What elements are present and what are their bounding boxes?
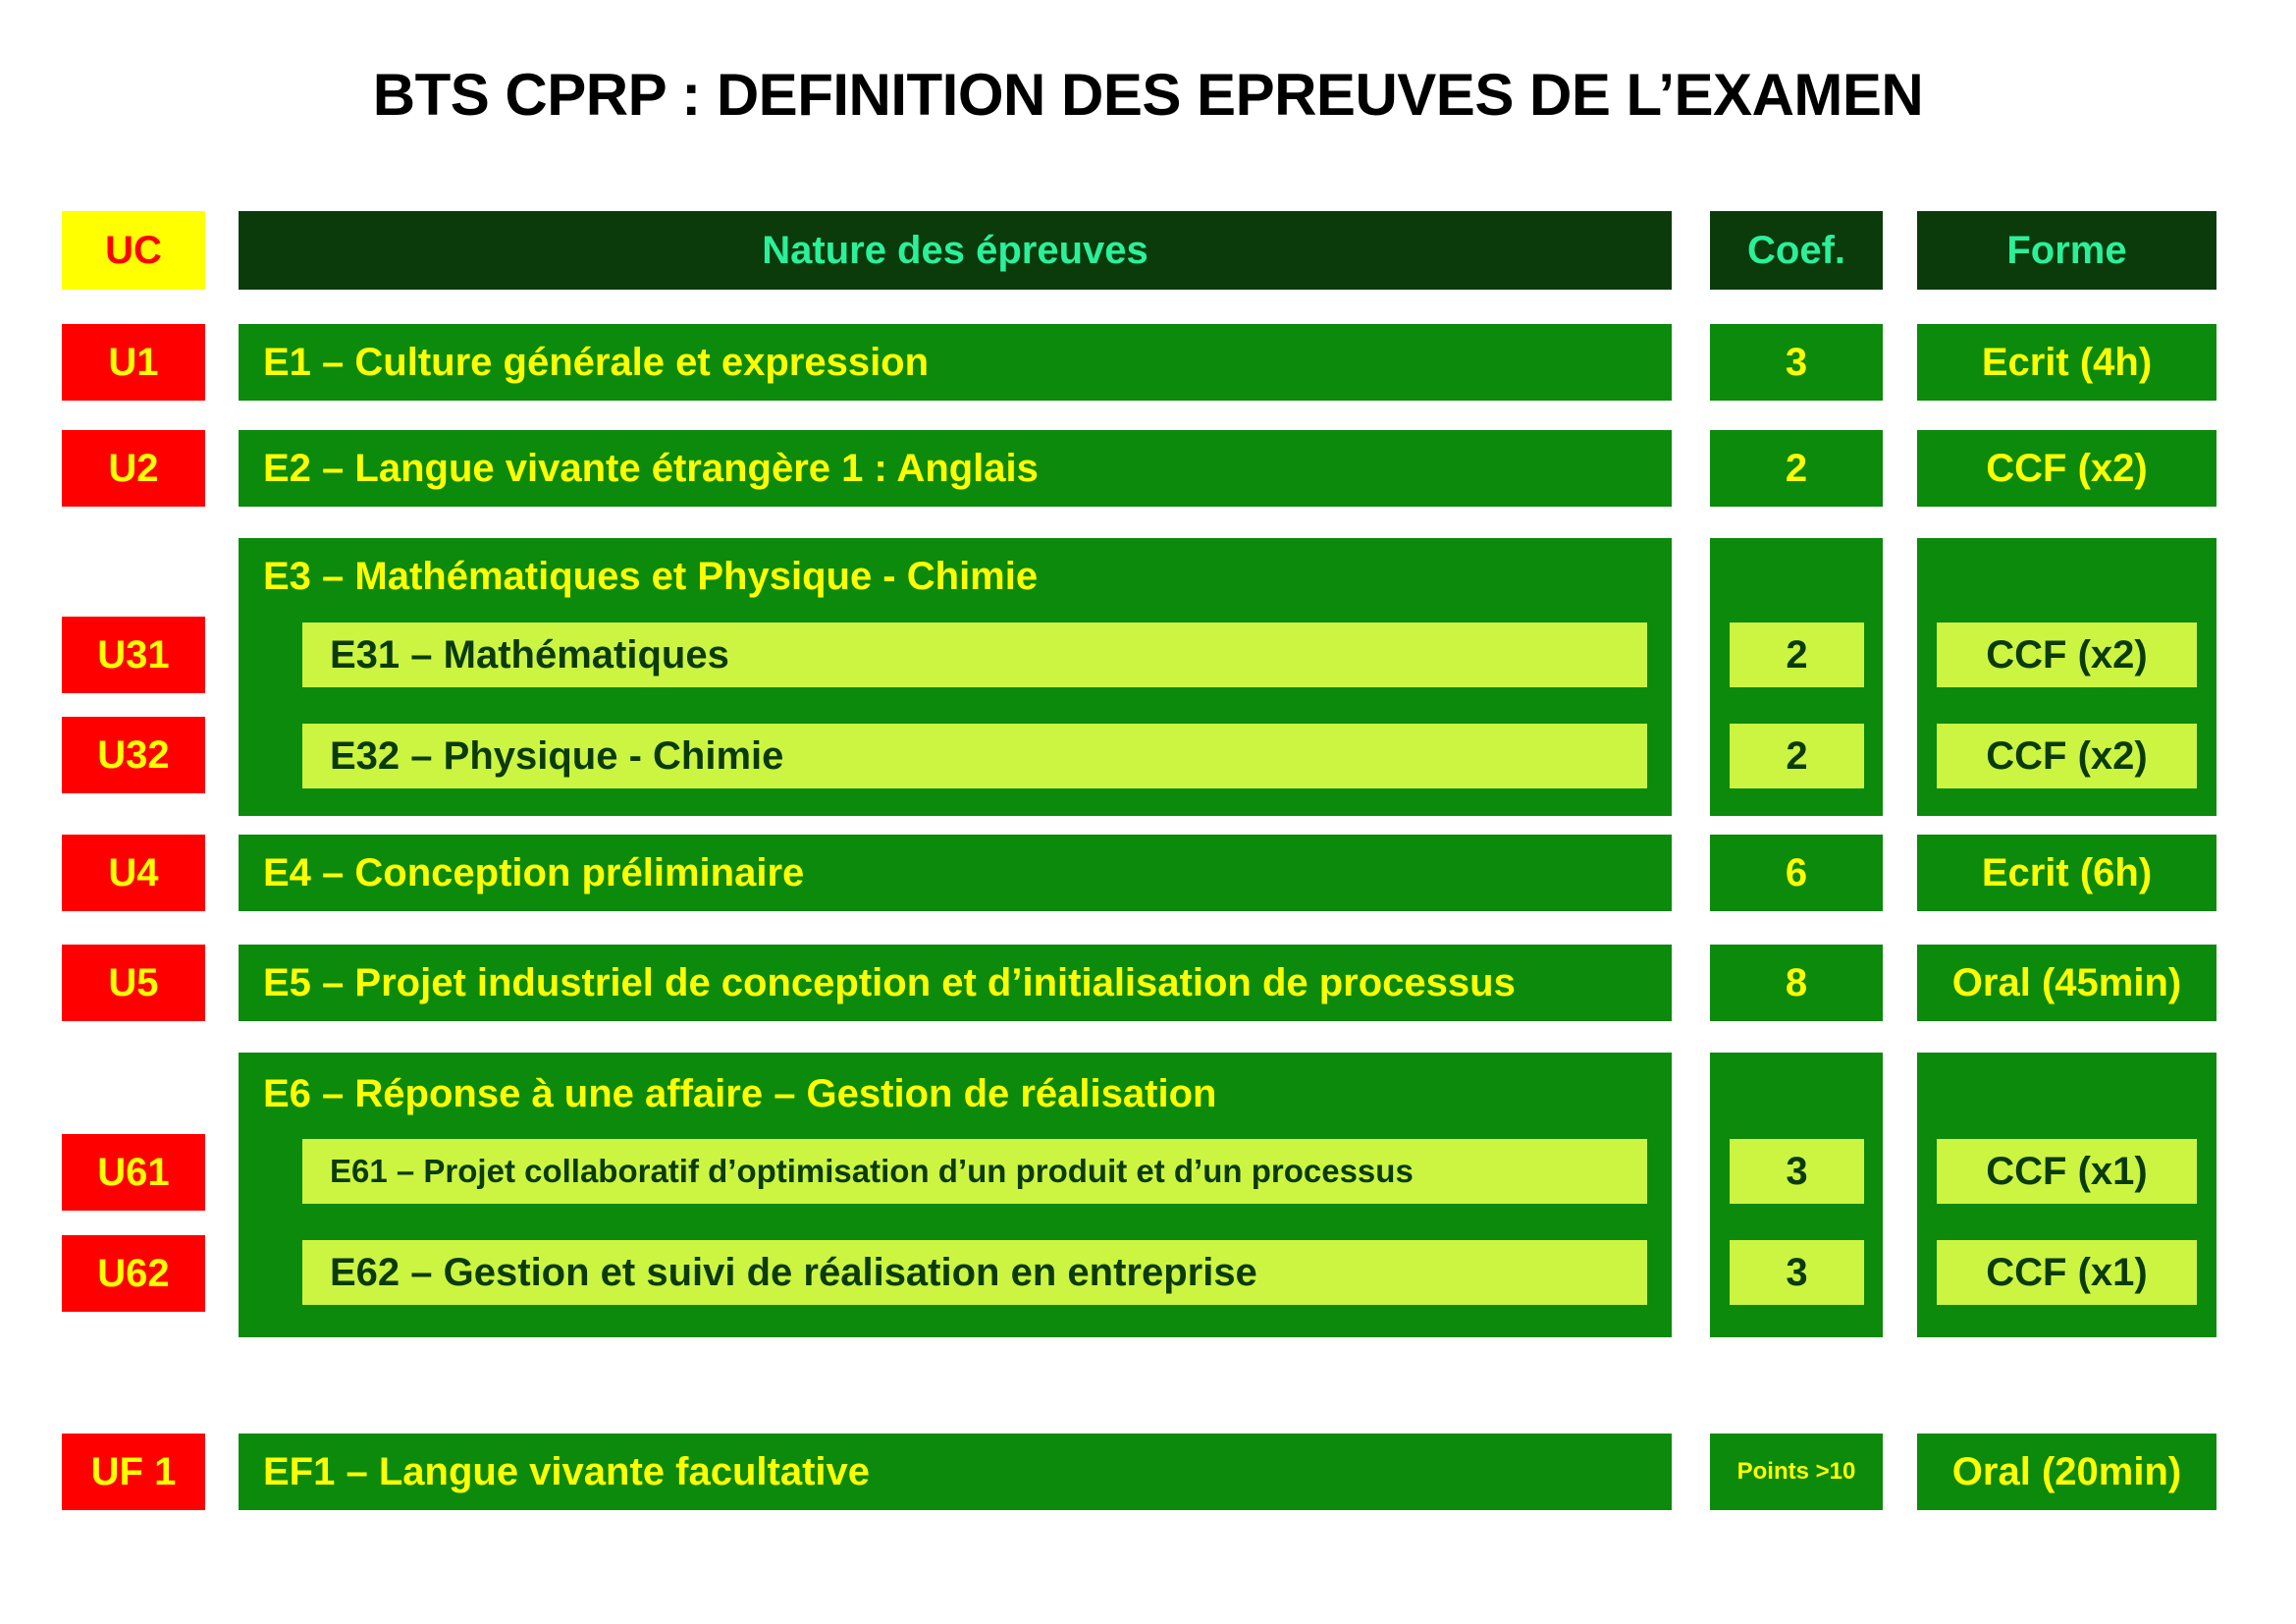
uc-chip-u1[interactable]: U1 — [62, 324, 205, 401]
forme-u1: Ecrit (4h) — [1917, 324, 2216, 401]
forme-uf1: Oral (20min) — [1917, 1434, 2216, 1510]
group-title-e6: E6 – Réponse à une affaire – Gestion de … — [263, 1072, 1216, 1116]
forme-u32: CCF (x2) — [1937, 724, 2197, 788]
nature-u61[interactable]: E61 – Projet collaboratif d’optimisation… — [302, 1139, 1647, 1204]
header-coef: Coef. — [1710, 211, 1883, 290]
coef-uf1: Points >10 — [1710, 1434, 1883, 1510]
uc-chip-u2[interactable]: U2 — [62, 430, 205, 507]
nature-u31[interactable]: E31 – Mathématiques — [302, 623, 1647, 687]
coef-u2: 2 — [1710, 430, 1883, 507]
coef-u1: 3 — [1710, 324, 1883, 401]
nature-u32[interactable]: E32 – Physique - Chimie — [302, 724, 1647, 788]
forme-u62: CCF (x1) — [1937, 1240, 2197, 1305]
uc-chip-u62[interactable]: U62 — [62, 1235, 205, 1312]
forme-u2: CCF (x2) — [1917, 430, 2216, 507]
uc-chip-u61[interactable]: U61 — [62, 1134, 205, 1211]
nature-u4[interactable]: E4 – Conception préliminaire — [239, 835, 1672, 911]
nature-uf1[interactable]: EF1 – Langue vivante facultative — [239, 1434, 1672, 1510]
page-title: BTS CPRP : DEFINITION DES EPREUVES DE L’… — [0, 61, 2296, 129]
uc-chip-u31[interactable]: U31 — [62, 617, 205, 693]
coef-u5: 8 — [1710, 945, 1883, 1021]
uc-chip-u5[interactable]: U5 — [62, 945, 205, 1021]
uc-chip-u32[interactable]: U32 — [62, 717, 205, 793]
forme-u61: CCF (x1) — [1937, 1139, 2197, 1204]
nature-u62[interactable]: E62 – Gestion et suivi de réalisation en… — [302, 1240, 1647, 1305]
coef-u4: 6 — [1710, 835, 1883, 911]
coef-u61: 3 — [1730, 1139, 1864, 1204]
nature-u2[interactable]: E2 – Langue vivante étrangère 1 : Anglai… — [239, 430, 1672, 507]
uc-chip-u4[interactable]: U4 — [62, 835, 205, 911]
forme-u31: CCF (x2) — [1937, 623, 2197, 687]
header-nature: Nature des épreuves — [239, 211, 1672, 290]
nature-u1[interactable]: E1 – Culture générale et expression — [239, 324, 1672, 401]
nature-u5[interactable]: E5 – Projet industriel de conception et … — [239, 945, 1672, 1021]
exam-definition-table: BTS CPRP : DEFINITION DES EPREUVES DE L’… — [0, 0, 2296, 1624]
forme-u4: Ecrit (6h) — [1917, 835, 2216, 911]
header-forme: Forme — [1917, 211, 2216, 290]
forme-u5: Oral (45min) — [1917, 945, 2216, 1021]
coef-u62: 3 — [1730, 1240, 1864, 1305]
coef-u32: 2 — [1730, 724, 1864, 788]
header-uc: UC — [62, 211, 205, 290]
uc-chip-uf1[interactable]: UF 1 — [62, 1434, 205, 1510]
coef-u31: 2 — [1730, 623, 1864, 687]
group-title-e3: E3 – Mathématiques et Physique - Chimie — [263, 555, 1038, 599]
